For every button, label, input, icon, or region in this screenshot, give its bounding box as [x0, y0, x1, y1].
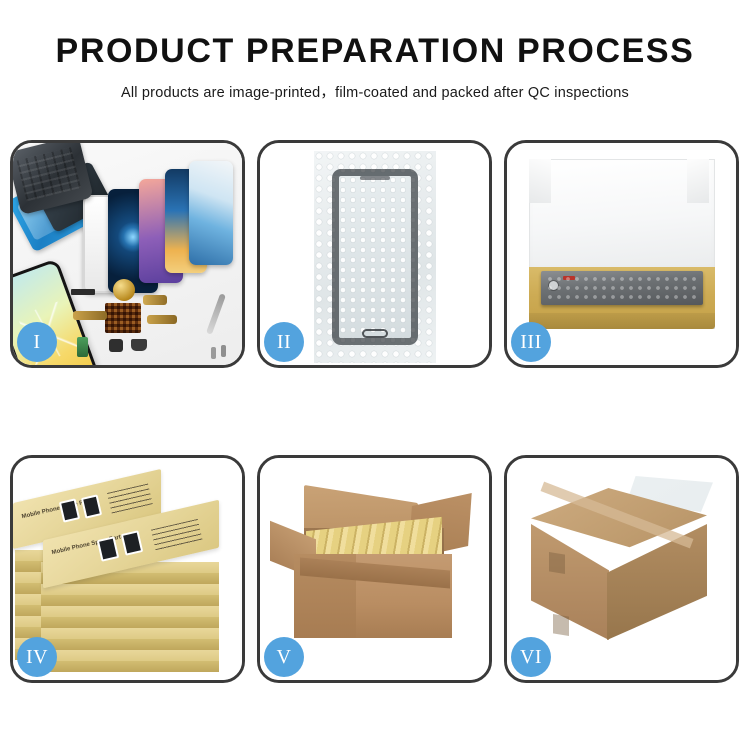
page-title: PRODUCT PREPARATION PROCESS	[0, 34, 750, 70]
step-panel-3: III	[504, 140, 739, 368]
page-subtitle: All products are image-printed，film-coat…	[0, 81, 750, 102]
lid-flap-left	[529, 159, 551, 203]
screwdriver-bit-1	[211, 347, 216, 359]
step-badge-3: III	[511, 322, 551, 362]
product-preparation-infographic: PRODUCT PREPARATION PROCESS All products…	[0, 0, 750, 750]
gold-coil-part	[113, 279, 135, 301]
step-badge-5: V	[264, 637, 304, 677]
speaker-bar-part	[71, 289, 95, 295]
screen-camera-dot	[549, 281, 558, 290]
step-panel-4: Mobile Phone Spare Parts Mobile Phone Sp…	[10, 455, 245, 683]
home-button-slot	[362, 329, 388, 338]
step-panel-6: VI	[504, 455, 739, 683]
sealed-carton-left	[531, 524, 609, 640]
screen-red-marker	[563, 276, 575, 280]
step-panel-2: II	[257, 140, 492, 368]
step-badge-4: IV	[17, 637, 57, 677]
speaker-module-part	[131, 339, 147, 351]
stacked-box-r3	[41, 606, 219, 628]
stacked-box-r2	[41, 584, 219, 606]
step-panel-5: V	[257, 455, 492, 683]
stacked-box-r4	[41, 628, 219, 650]
process-steps-grid: I II	[10, 140, 740, 683]
stacked-box-r5	[41, 650, 219, 672]
battery-part	[77, 337, 88, 357]
step-badge-1: I	[17, 322, 57, 362]
carton-handle-tab-1	[549, 552, 565, 574]
carton-handle-tab-2	[553, 614, 569, 636]
step-panel-1: I	[10, 140, 245, 368]
flex-cable-b	[143, 295, 167, 305]
earpiece-slot	[360, 176, 390, 180]
flex-cable-a	[73, 311, 107, 320]
screwdriver-bit-2	[221, 345, 226, 357]
wrapped-screen-glass	[332, 169, 418, 345]
packed-screen-item	[541, 271, 703, 305]
step-badge-2: II	[264, 322, 304, 362]
page-header: PRODUCT PREPARATION PROCESS All products…	[0, 0, 750, 102]
lid-flap-right	[687, 159, 709, 203]
connector-chip-grid	[105, 303, 141, 333]
bubble-wrap-sheet	[314, 151, 436, 363]
step-badge-6: VI	[511, 637, 551, 677]
camera-module-part	[109, 339, 123, 352]
screen-teal-wallpaper	[189, 161, 233, 265]
flex-cable-c	[147, 315, 177, 324]
